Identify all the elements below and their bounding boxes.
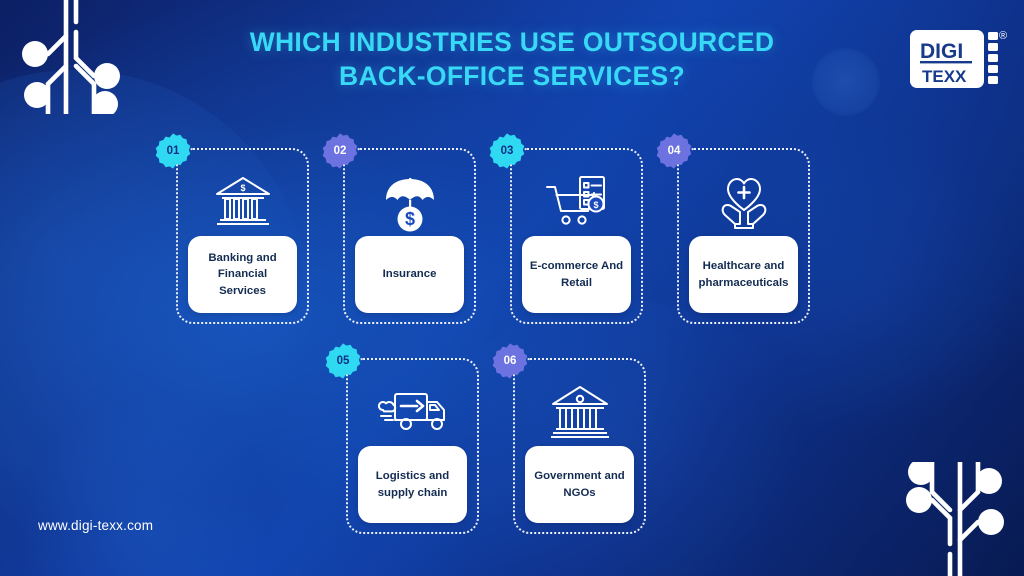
card-label-02: Insurance (355, 236, 464, 313)
card-number-02: 02 (334, 145, 347, 157)
industry-card-02[interactable]: 02 $ Insurance (343, 148, 476, 324)
card-label-06: Government and NGOs (525, 446, 634, 523)
card-number-04: 04 (668, 145, 681, 157)
shopping-cart-receipt-icon: $ (512, 164, 641, 242)
industry-card-04[interactable]: 04 Healthcare and pharmaceuticals (677, 148, 810, 324)
title-line-2: BACK-OFFICE SERVICES? (0, 60, 1024, 94)
card-number-01: 01 (167, 145, 180, 157)
footer-website-url[interactable]: www.digi-texx.com (38, 518, 153, 533)
card-row-bottom: 05 Logistics and supply chain (346, 358, 646, 534)
card-number-05: 05 (337, 355, 350, 367)
card-badge-05: 05 (324, 342, 362, 380)
svg-text:$: $ (240, 183, 245, 193)
industry-card-03[interactable]: 03 $ E-commer (510, 148, 643, 324)
circuit-nodes-icon (892, 462, 1018, 576)
page-title: WHICH INDUSTRIES USE OUTSOURCED BACK-OFF… (0, 26, 1024, 94)
card-badge-02: 02 (321, 132, 359, 170)
industry-card-05[interactable]: 05 Logistics and supply chain (346, 358, 479, 534)
card-label-05: Logistics and supply chain (358, 446, 467, 523)
bank-building-icon: $ (178, 164, 307, 242)
card-label-04: Healthcare and pharmaceuticals (689, 236, 798, 313)
card-label-01: Banking and Financial Services (188, 236, 297, 313)
card-badge-03: 03 (488, 132, 526, 170)
card-row-top: 01 $ Banking and Financial Services (176, 148, 810, 324)
card-number-03: 03 (501, 145, 514, 157)
hands-heart-cross-icon (679, 164, 808, 242)
svg-text:$: $ (404, 209, 414, 229)
card-badge-06: 06 (491, 342, 529, 380)
card-number-06: 06 (504, 355, 517, 367)
card-label-03: E-commerce And Retail (522, 236, 631, 313)
industry-card-01[interactable]: 01 $ Banking and Financial Services (176, 148, 309, 324)
delivery-truck-icon (348, 374, 477, 452)
umbrella-dollar-icon: $ (345, 164, 474, 242)
background-glow-bottom-left (20, 400, 270, 576)
card-badge-01: 01 (154, 132, 192, 170)
svg-text:$: $ (593, 200, 598, 210)
infographic-slide: DIGI TEXX ® WHICH INDUSTRIES USE OUTSOUR… (0, 0, 1024, 576)
industry-card-06[interactable]: 06 Government and NGOs (513, 358, 646, 534)
title-line-1: WHICH INDUSTRIES USE OUTSOURCED (0, 26, 1024, 60)
government-building-icon (515, 374, 644, 452)
card-badge-04: 04 (655, 132, 693, 170)
